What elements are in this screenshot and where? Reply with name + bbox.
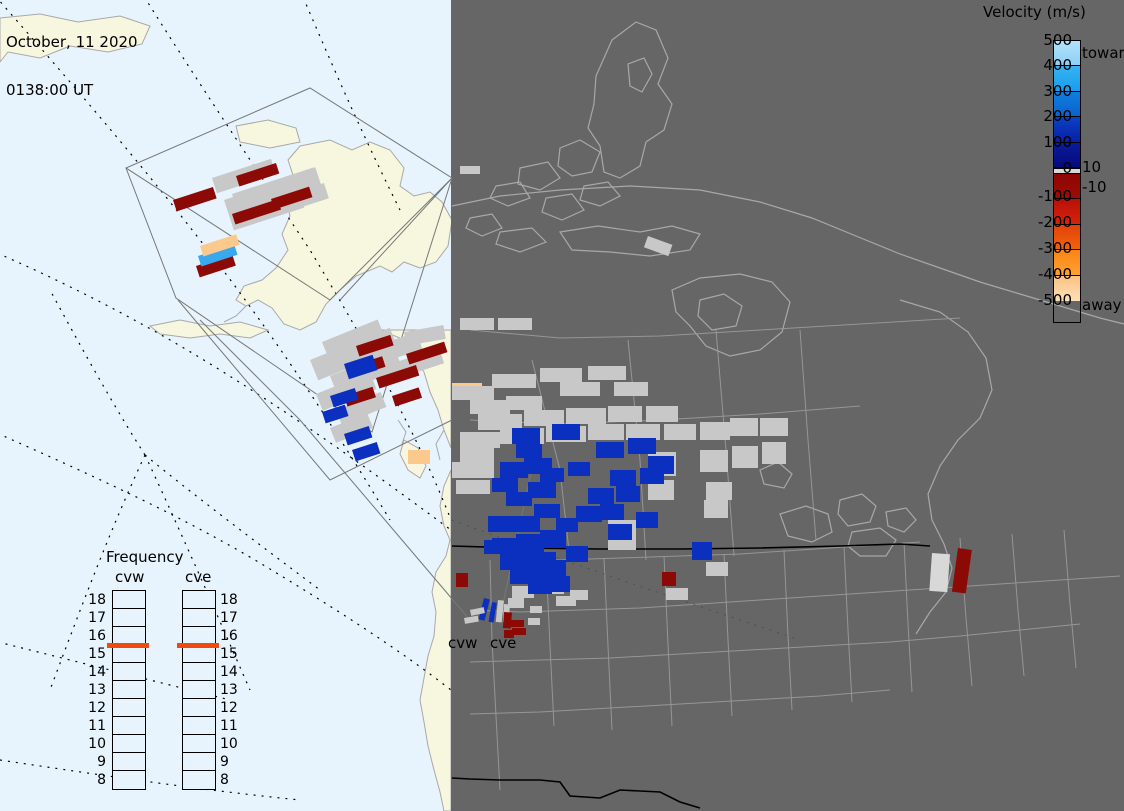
freq-tick-cvw: 16 (84, 628, 106, 644)
colorbar-tick-100: 100 (1018, 133, 1072, 151)
colorbar-toward-label: toward (1082, 44, 1124, 62)
frequency-bar-cve (182, 590, 216, 790)
freq-cell (183, 663, 215, 681)
freq-cell (113, 609, 145, 627)
colorbar-tick-0: 0 (1018, 159, 1072, 177)
frequency-marker-cvw (107, 643, 149, 648)
colorbar-tick-m500: -500 (1018, 291, 1072, 309)
freq-tick-cvw: 11 (84, 718, 106, 734)
freq-cell (113, 663, 145, 681)
freq-tick-cvw: 14 (84, 664, 106, 680)
freq-tick-cve: 15 (220, 646, 242, 662)
colorbar-tick-m100: -100 (1018, 187, 1072, 205)
radar-site-label-cvw: cvw (448, 634, 477, 652)
freq-tick-cve: 17 (220, 610, 242, 626)
time-label: 0138:00 UT (6, 82, 138, 98)
colorbar-away-label: away (1082, 296, 1122, 314)
echo-cells-western-canada (452, 366, 788, 608)
freq-tick-cvw: 10 (84, 736, 106, 752)
frequency-panel-title: Frequency (106, 548, 184, 566)
freq-tick-cve: 8 (220, 772, 242, 788)
freq-cell (183, 771, 215, 789)
colorbar-tick-500: 500 (1018, 31, 1072, 49)
freq-tick-cve: 11 (220, 718, 242, 734)
freq-tick-cvw: 9 (84, 754, 106, 770)
freq-tick-cvw: 15 (84, 646, 106, 662)
superdarn-velocity-map: October, 11 2020 0138:00 UT Velocity (m/… (0, 0, 1124, 811)
landmass-us-west-coast (420, 470, 451, 811)
freq-tick-cvw: 18 (84, 592, 106, 608)
freq-cell (183, 681, 215, 699)
colorbar-title: Velocity (m/s) (983, 3, 1086, 21)
frequency-marker-cve (177, 643, 219, 648)
frequency-panel: Frequency cvw cve (88, 548, 248, 788)
freq-tick-cvw: 8 (84, 772, 106, 788)
velocity-colorbar-panel: Velocity (m/s) 500 400 300 200 100 0 -10… (975, 0, 1124, 340)
colorbar-tick-m400: -400 (1018, 265, 1072, 283)
freq-tick-cve: 12 (220, 700, 242, 716)
freq-tick-cve: 9 (220, 754, 242, 770)
freq-cell (183, 591, 215, 609)
freq-cell (183, 717, 215, 735)
freq-cell (113, 591, 145, 609)
frequency-column-label-cvw: cvw (115, 568, 144, 586)
freq-tick-cvw: 12 (84, 700, 106, 716)
timestamp-block: October, 11 2020 0138:00 UT (6, 2, 138, 130)
frequency-column-label-cve: cve (185, 568, 211, 586)
freq-tick-cve: 10 (220, 736, 242, 752)
radar-site-label-cve: cve (490, 634, 516, 652)
freq-tick-cvw: 17 (84, 610, 106, 626)
echo-cells-northern-isolated (460, 166, 672, 256)
freq-cell (113, 771, 145, 789)
freq-tick-cvw: 13 (84, 682, 106, 698)
freq-cell (183, 753, 215, 771)
colorbar-tick-400: 400 (1018, 56, 1072, 74)
freq-tick-cve: 18 (220, 592, 242, 608)
colorbar-tick-200: 200 (1018, 107, 1072, 125)
frequency-bar-cvw (112, 590, 146, 790)
colorbar-tick-m200: -200 (1018, 213, 1072, 231)
colorbar-tick-m300: -300 (1018, 239, 1072, 257)
freq-cell (113, 717, 145, 735)
echo-cells-east-coast (929, 548, 972, 594)
colorbar-tick-300: 300 (1018, 82, 1072, 100)
freq-tick-cve: 16 (220, 628, 242, 644)
freq-cell (113, 681, 145, 699)
landmass-arctic-islands (236, 120, 300, 148)
date-label: October, 11 2020 (6, 34, 138, 50)
freq-cell (113, 735, 145, 753)
freq-cell (183, 609, 215, 627)
colorbar-threshold-upper: 10 (1082, 158, 1101, 176)
freq-cell (113, 699, 145, 717)
freq-tick-cve: 14 (220, 664, 242, 680)
freq-cell (183, 735, 215, 753)
freq-tick-cve: 13 (220, 682, 242, 698)
freq-cell (183, 699, 215, 717)
freq-cell (113, 753, 145, 771)
colorbar-threshold-lower: -10 (1082, 178, 1107, 196)
